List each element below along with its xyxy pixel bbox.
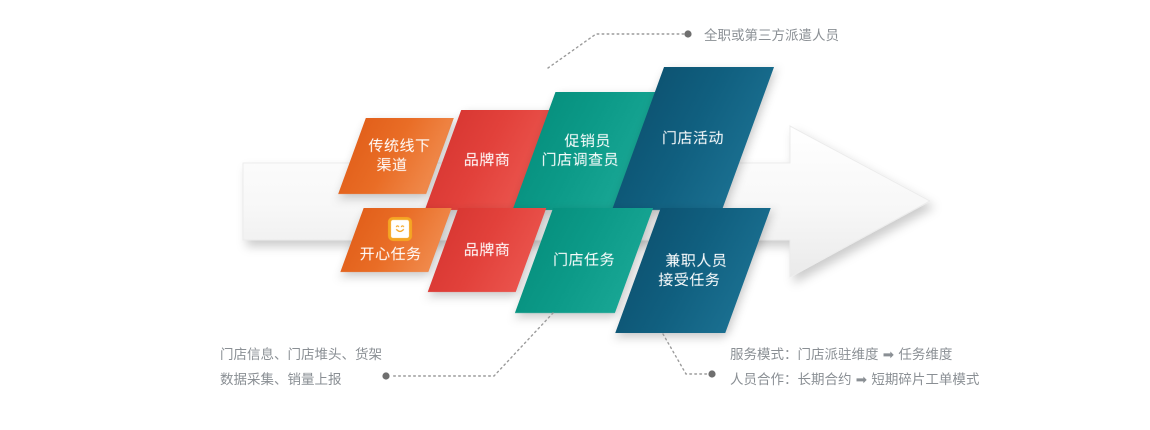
annotation-top-right: 全职或第三方派遣人员 [704,24,839,49]
process-diagram: 传统线下 渠道 品牌商 促销员 门店调查员 门店活动 开心任务 品牌商 门店任务… [0,0,1150,430]
chevron-label-line2: 渠道 [377,156,408,175]
chevron-label-line2: 接受任务 [659,271,721,290]
chevron-label-line1: 品牌商 [464,241,511,260]
chevron-label-line1: 兼职人员 [665,252,727,271]
annotation-bottom-left-line2: 数据采集、销量上报 [220,368,382,393]
annotation-bottom-left-line1: 门店信息、门店堆头、货架 [220,343,382,368]
annotation-bottom-right-line1: 服务模式：门店派驻维度 ➡ 任务维度 [730,343,979,368]
smiley-icon [388,217,412,241]
chevron-label-line2: 门店调查员 [542,151,620,170]
chevron-label-line1: 品牌商 [464,151,511,170]
annotation-top-right-text: 全职或第三方派遣人员 [704,28,839,44]
annotation-bottom-left: 门店信息、门店堆头、货架 数据采集、销量上报 [220,343,382,393]
chevron-label-line1: 门店活动 [662,129,724,148]
annotation-bottom-right: 服务模式：门店派驻维度 ➡ 任务维度 人员合作：长期合约 ➡ 短期碎片工单模式 [730,343,979,393]
chevron-label-line1: 门店任务 [553,251,615,270]
chevron-label-line1: 促销员 [564,132,611,151]
chevron-label-line1: 开心任务 [360,245,422,264]
annotation-bottom-right-line2: 人员合作：长期合约 ➡ 短期碎片工单模式 [730,368,979,393]
chevron-label-line1: 传统线下 [368,137,430,156]
